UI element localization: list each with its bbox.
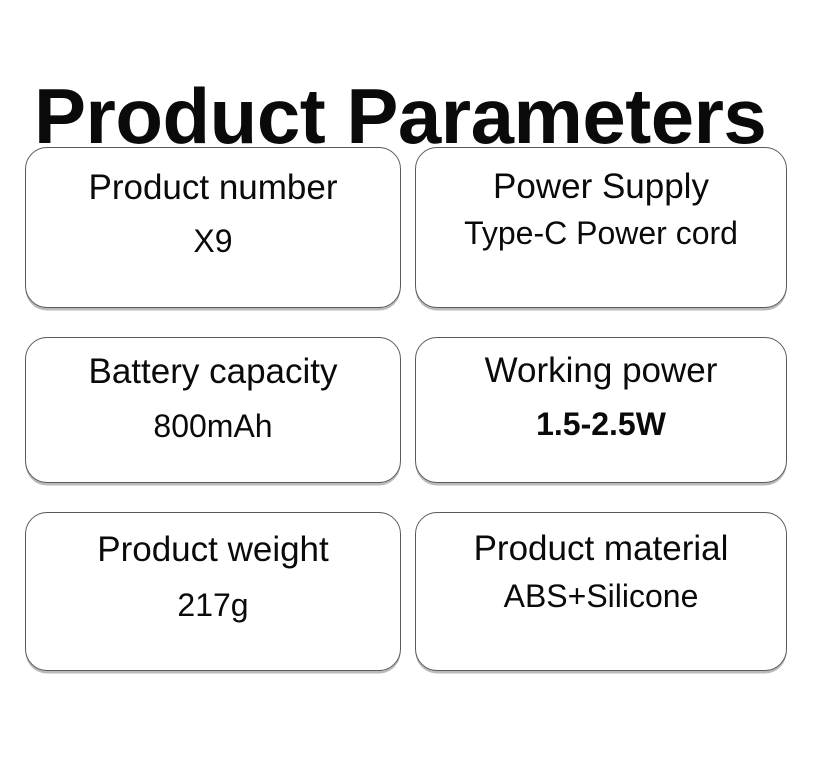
parameter-label: Product number (88, 168, 337, 208)
parameter-card-product-number: Product number X9 (25, 147, 401, 308)
parameter-label: Power Supply (493, 167, 709, 207)
parameter-card-product-weight: Product weight 217g (25, 512, 401, 671)
parameter-card-grid: Product number X9 Power Supply Type-C Po… (0, 0, 827, 775)
parameter-value: Type-C Power cord (464, 214, 738, 252)
parameter-label: Working power (485, 351, 718, 391)
parameter-label: Product weight (97, 530, 329, 570)
parameter-value: X9 (193, 222, 232, 260)
parameter-value: ABS+Silicone (504, 577, 699, 615)
parameter-card-product-material: Product material ABS+Silicone (415, 512, 787, 671)
product-parameters-page: Product Parameters Product number X9 Pow… (0, 0, 827, 775)
parameter-label: Product material (474, 529, 729, 569)
parameter-card-power-supply: Power Supply Type-C Power cord (415, 147, 787, 308)
parameter-value: 1.5-2.5W (536, 405, 666, 443)
parameter-card-battery-capacity: Battery capacity 800mAh (25, 337, 401, 483)
parameter-value: 800mAh (153, 407, 272, 445)
parameter-card-working-power: Working power 1.5-2.5W (415, 337, 787, 483)
parameter-label: Battery capacity (89, 352, 338, 392)
parameter-value: 217g (177, 586, 248, 624)
